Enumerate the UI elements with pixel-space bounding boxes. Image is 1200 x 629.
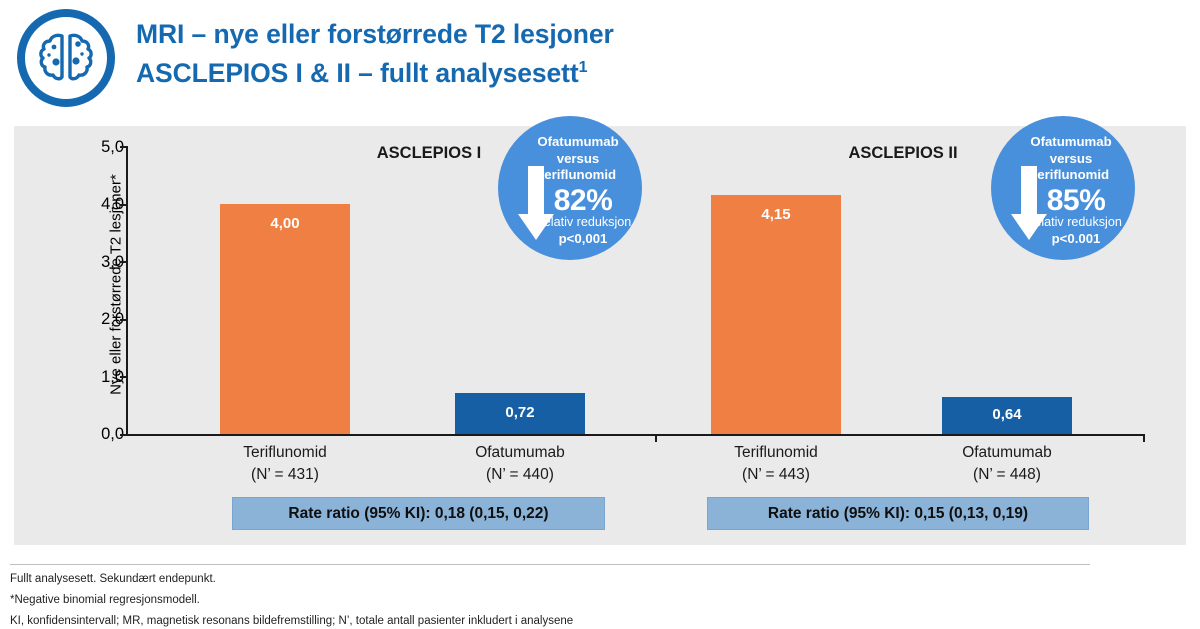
page-title: MRI – nye eller forstørrede T2 lesjoner … [136, 18, 614, 90]
x-axis-line [126, 434, 1145, 436]
callout-asclepios1: Ofatumumab versus teriflunomid 82% Relat… [498, 116, 642, 260]
footnote-line-1: Fullt analysesett. Sekundært endepunkt. [10, 573, 216, 585]
slide-header: MRI – nye eller forstørrede T2 lesjoner … [0, 0, 1200, 112]
callout-heading: Ofatumumab versus teriflunomid [498, 134, 642, 184]
bar-value-label: 4,15 [711, 206, 841, 223]
callout-line-3: teriflunomid [514, 167, 642, 184]
callout-reduction-text: relativ reduksjon [991, 215, 1135, 229]
y-tick-label-2: 2,0 [78, 310, 124, 329]
rate-ratio-box-asclepios1: Rate ratio (95% KI): 0,18 (0,15, 0,22) [232, 497, 605, 530]
footnote-divider [10, 564, 1090, 565]
bar-asclepios1-ofatumumab[interactable]: 0,72 [455, 393, 585, 434]
callout-pvalue: p<0.001 [991, 231, 1135, 246]
footnote-line-2: *Negative binomial regresjonsmodell. [10, 594, 200, 606]
bar-value-label: 0,64 [942, 406, 1072, 423]
y-axis-title: Nye eller forstørrede T2 lesjoner* [108, 135, 125, 435]
title-line-1: MRI – nye eller forstørrede T2 lesjoner [136, 19, 614, 49]
callout-asclepios2: Ofatumumab versus teriflunomid 85% relat… [991, 116, 1135, 260]
bar-value-label: 0,72 [455, 404, 585, 421]
callout-percent: 82% [498, 184, 642, 218]
title-superscript: 1 [579, 59, 588, 76]
x-label-category: Teriflunomid [701, 442, 851, 464]
callout-line-1: Ofatumumab [1007, 134, 1135, 151]
x-label-n: (N’ = 448) [932, 464, 1082, 486]
rate-ratio-box-asclepios2: Rate ratio (95% KI): 0,15 (0,13, 0,19) [707, 497, 1089, 530]
y-tick-label-5: 5,0 [78, 138, 124, 157]
x-label-category: Ofatumumab [445, 442, 595, 464]
callout-line-3: teriflunomid [1007, 167, 1135, 184]
group-header-asclepios-2: ASCLEPIOS II [814, 144, 992, 163]
y-axis-line [126, 146, 128, 436]
callout-line-1: Ofatumumab [514, 134, 642, 151]
callout-line-2: versus [1007, 151, 1135, 168]
callout-percent: 85% [991, 184, 1135, 218]
callout-reduction-text: Relativ reduksjon [498, 215, 642, 229]
bar-asclepios1-teriflunomid[interactable]: 4,00 [220, 204, 350, 434]
title-line-2: ASCLEPIOS I & II – fullt analysesett [136, 58, 579, 88]
x-axis-group-divider-tick [655, 434, 657, 442]
x-label-n: (N’ = 440) [445, 464, 595, 486]
x-label-asclepios2-ofatumumab: Ofatumumab (N’ = 448) [932, 442, 1082, 486]
x-label-n: (N’ = 431) [210, 464, 360, 486]
x-label-asclepios2-teriflunomid: Teriflunomid (N’ = 443) [701, 442, 851, 486]
x-label-category: Teriflunomid [210, 442, 360, 464]
bar-asclepios2-teriflunomid[interactable]: 4,15 [711, 195, 841, 434]
bar-value-label: 4,00 [220, 215, 350, 232]
y-tick-label-1: 1,0 [78, 368, 124, 387]
bar-asclepios2-ofatumumab[interactable]: 0,64 [942, 397, 1072, 434]
x-axis-end-tick [1143, 434, 1145, 442]
callout-line-2: versus [514, 151, 642, 168]
slide-root: MRI – nye eller forstørrede T2 lesjoner … [0, 0, 1200, 629]
y-tick-label-0: 0,0 [78, 425, 124, 444]
brain-icon [14, 6, 118, 110]
x-label-category: Ofatumumab [932, 442, 1082, 464]
y-tick-label-3: 3,0 [78, 253, 124, 272]
x-label-asclepios1-ofatumumab: Ofatumumab (N’ = 440) [445, 442, 595, 486]
x-label-n: (N’ = 443) [701, 464, 851, 486]
y-tick-label-4: 4,0 [78, 195, 124, 214]
group-header-asclepios-1: ASCLEPIOS I [344, 144, 514, 163]
callout-pvalue: p<0,001 [498, 231, 642, 246]
callout-heading: Ofatumumab versus teriflunomid [991, 134, 1135, 184]
x-label-asclepios1-teriflunomid: Teriflunomid (N’ = 431) [210, 442, 360, 486]
footnote-line-3: KI, konfidensintervall; MR, magnetisk re… [10, 615, 573, 627]
